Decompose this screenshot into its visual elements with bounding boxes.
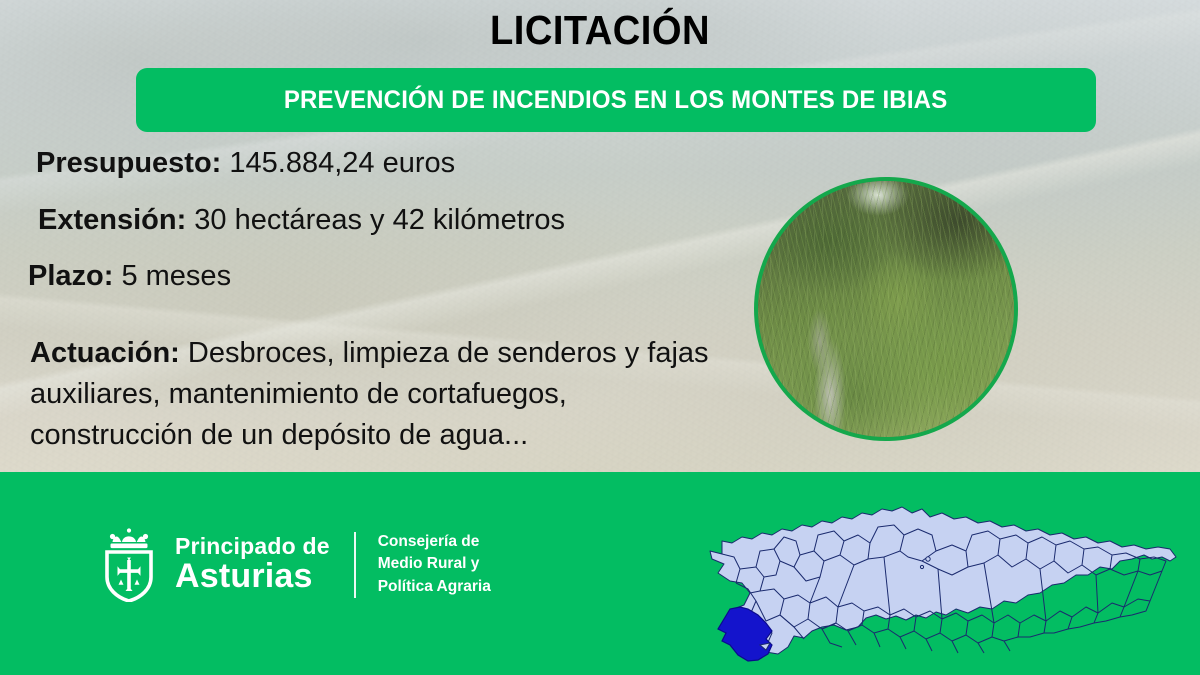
logo-wordmark: Principado de Asturias (175, 535, 330, 594)
detail-value-presupuesto: 145.884,24 euros (221, 147, 455, 179)
institutional-logo: Principado de Asturias Consejería de Med… (100, 527, 491, 602)
logo-divider (354, 532, 356, 598)
page-title: LICITACIÓN (42, 7, 1158, 54)
detail-label-plazo: Plazo: (28, 260, 113, 292)
infographic-card: LICITACIÓN PREVENCIÓN DE INCENDIOS EN LO… (0, 0, 1200, 675)
detail-row-actuacion: Actuación: Desbroces, limpieza de sender… (30, 333, 730, 457)
consejeria-block: Consejería de Medio Rural y Política Agr… (378, 531, 491, 598)
subtitle-text: PREVENCIÓN DE INCENDIOS EN LOS MONTES DE… (284, 86, 948, 115)
detail-row-presupuesto: Presupuesto: 145.884,24 euros (0, 148, 720, 179)
detail-value-extension: 30 hectáreas y 42 kilómetros (186, 204, 565, 236)
circular-photo (754, 177, 1018, 441)
detail-row-plazo: Plazo: 5 meses (0, 261, 720, 292)
consejeria-line-3: Política Agraria (378, 576, 491, 598)
detail-value-plazo: 5 meses (113, 260, 231, 292)
asturias-map (700, 497, 1180, 669)
consejeria-line-2: Medio Rural y (378, 553, 491, 575)
subtitle-banner: PREVENCIÓN DE INCENDIOS EN LOS MONTES DE… (136, 68, 1096, 132)
logo-line-asturias: Asturias (175, 559, 330, 594)
logo-line-principado: Principado de (175, 535, 330, 559)
map-municipalities (710, 507, 1176, 654)
photo-grass-texture-layer (758, 181, 1014, 437)
detail-row-extension: Extensión: 30 hectáreas y 42 kilómetros (0, 205, 720, 236)
details-list: Presupuesto: 145.884,24 euros Extensión:… (0, 148, 720, 322)
detail-label-presupuesto: Presupuesto: (36, 147, 221, 179)
asturias-shield-icon (100, 527, 158, 602)
detail-label-actuacion: Actuación: (30, 337, 180, 369)
detail-label-extension: Extensión: (38, 204, 186, 236)
consejeria-line-1: Consejería de (378, 531, 491, 553)
